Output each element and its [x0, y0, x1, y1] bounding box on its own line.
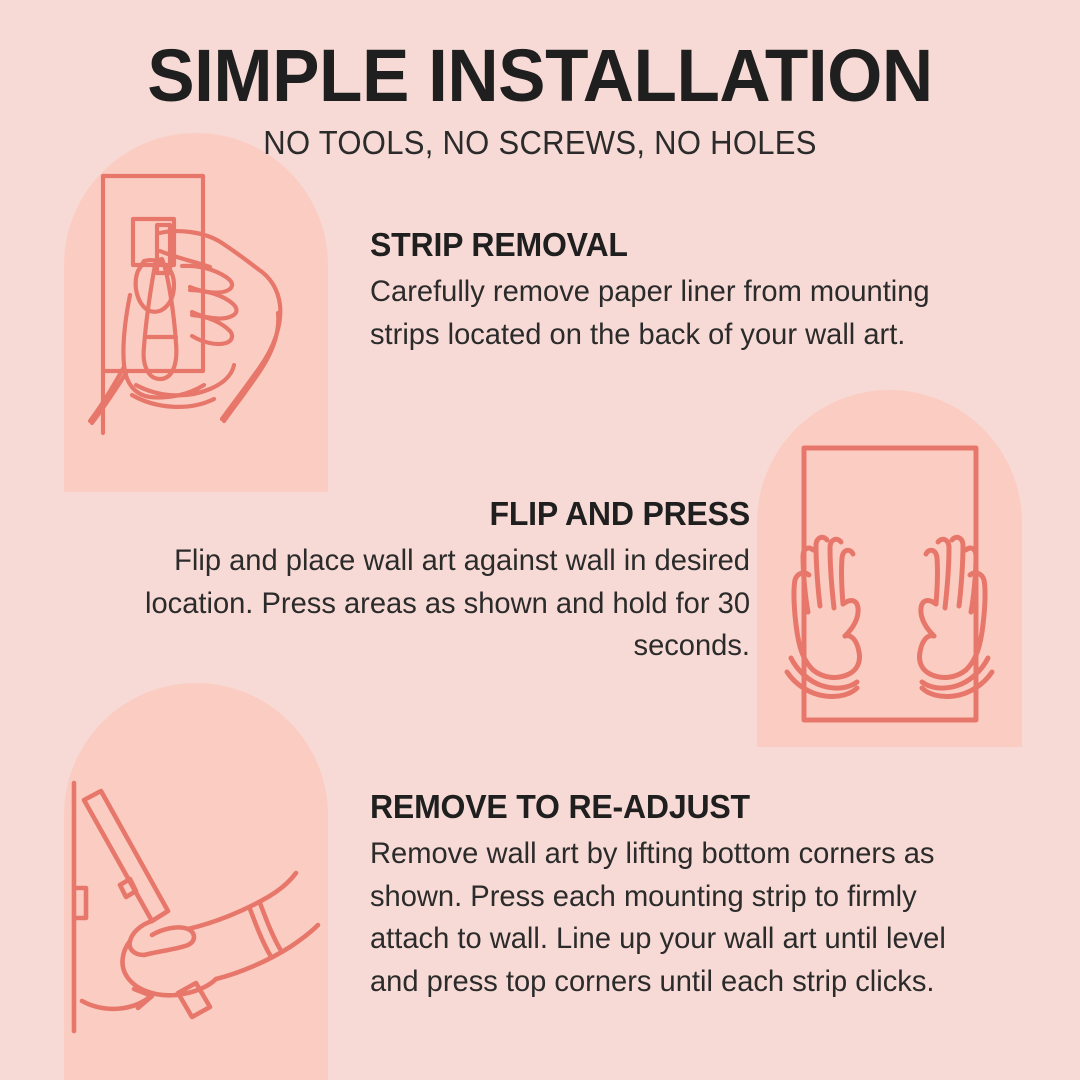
header: SIMPLE INSTALLATION NO TOOLS, NO SCREWS,…	[0, 42, 1080, 162]
step-heading-flip-press: FLIP AND PRESS	[98, 497, 750, 530]
step-readjust: REMOVE TO RE-ADJUST Remove wall art by l…	[370, 790, 1010, 1003]
hand-peeling-liner-illustration	[64, 133, 328, 492]
illustration-panel-flip-press	[757, 390, 1022, 747]
hand-lifting-corner-illustration	[64, 683, 328, 1080]
page-subtitle: NO TOOLS, NO SCREWS, NO HOLES	[32, 124, 1047, 162]
two-hands-pressing-frame-illustration	[757, 390, 1022, 747]
step-body-strip-removal: Carefully remove paper liner from mounti…	[370, 271, 991, 356]
step-body-readjust: Remove wall art by lifting bottom corner…	[370, 833, 991, 1003]
step-body-flip-press: Flip and place wall art against wall in …	[98, 540, 750, 668]
step-flip-press: FLIP AND PRESS Flip and place wall art a…	[78, 497, 750, 668]
step-strip-removal: STRIP REMOVAL Carefully remove paper lin…	[370, 228, 1010, 356]
illustration-panel-readjust	[64, 683, 328, 1080]
illustration-panel-strip-removal	[64, 133, 328, 492]
step-heading-strip-removal: STRIP REMOVAL	[370, 228, 991, 261]
step-heading-readjust: REMOVE TO RE-ADJUST	[370, 790, 991, 823]
page-title: SIMPLE INSTALLATION	[22, 42, 1059, 110]
